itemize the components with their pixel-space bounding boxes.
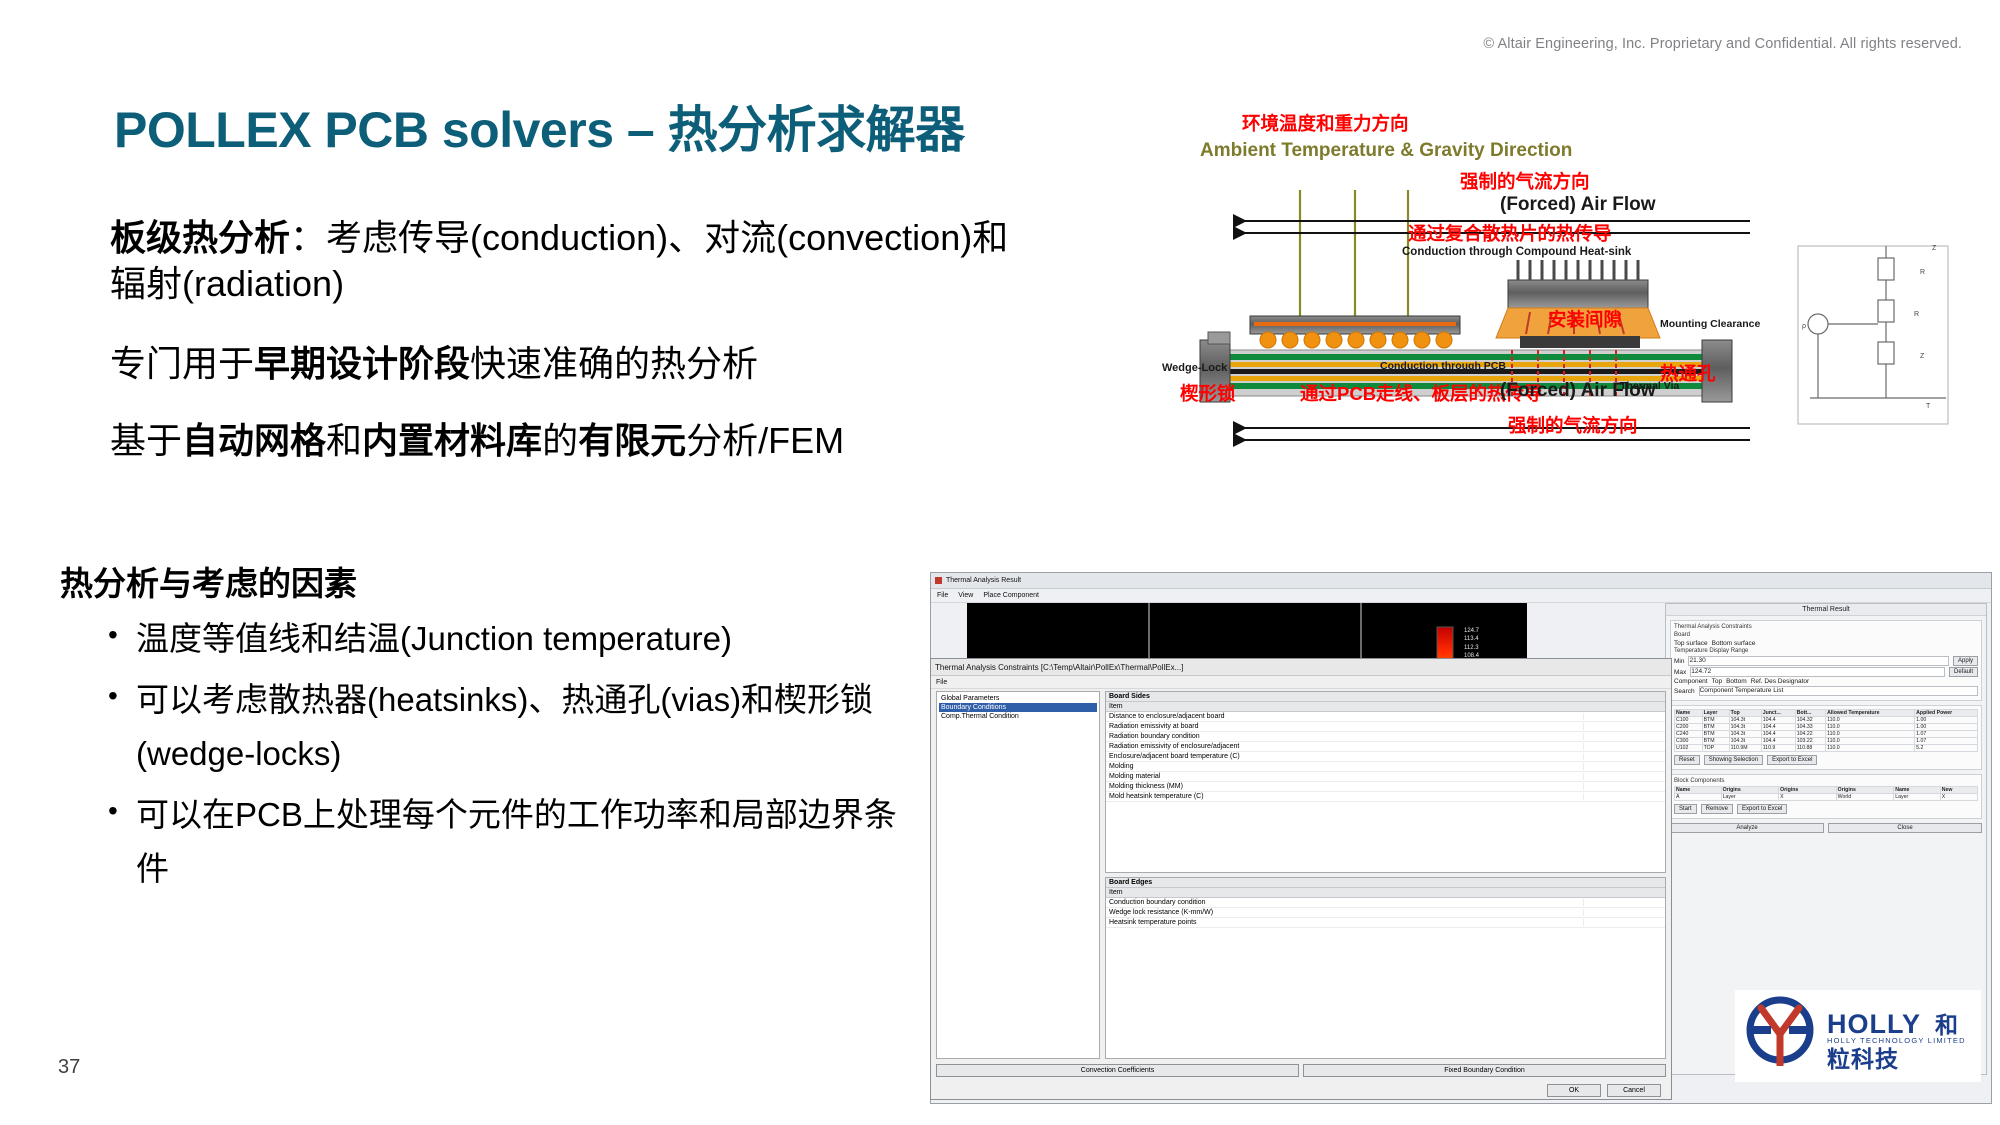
bullet-marker-icon: • xyxy=(108,612,136,657)
presentation-slide: © Altair Engineering, Inc. Proprietary a… xyxy=(0,0,2000,1125)
diagram-label-airflow-bottom-cn: 强制的气流方向 xyxy=(1508,412,1638,438)
panel-section-constraints: Thermal Analysis Constraints Board Top s… xyxy=(1670,620,1982,701)
factor-bullet-list: • 温度等值线和结温(Junction temperature) • 可以考虑散… xyxy=(108,612,898,903)
app-title-bar: Thermal Analysis Result xyxy=(931,573,1991,589)
svg-text:T: T xyxy=(1926,403,1931,410)
cell-block-layer2: Layer xyxy=(1894,794,1941,801)
table-row[interactable]: Mold heatsink temperature (C) xyxy=(1106,792,1665,802)
bullet-text: 可以考虑散热器(heatsinks)、热通孔(vias)和楔形锁(wedge-l… xyxy=(136,673,898,780)
tree-item-boundary-conditions[interactable]: Boundary Conditions xyxy=(939,703,1097,712)
cell-power: 5.2 xyxy=(1915,745,1978,752)
row-label: Radiation boundary condition xyxy=(1109,733,1583,740)
bullet-marker-icon: • xyxy=(108,788,136,833)
row-label: Distance to enclosure/adjacent board xyxy=(1109,713,1583,720)
temp-min-row[interactable]: Min 21.30 Apply xyxy=(1674,656,1978,666)
row-label: Molding thickness (MM) xyxy=(1109,783,1583,790)
row-label: Radiation emissivity of enclosure/adjace… xyxy=(1109,743,1583,750)
th-name: Name xyxy=(1675,710,1703,717)
table-row[interactable]: Molding thickness (MM) xyxy=(1106,782,1665,792)
block-action-buttons[interactable]: Start Remove Export to Excel xyxy=(1674,804,1978,814)
table-row[interactable]: C100 BTM 104.3t 104.4 104.32 110.0 1.00 xyxy=(1675,717,1978,724)
svg-text:R: R xyxy=(1920,269,1925,276)
cell-junction: 104.4 xyxy=(1761,717,1795,724)
tree-item-global-parameters[interactable]: Global Parameters xyxy=(939,694,1097,703)
row-value[interactable] xyxy=(1583,753,1662,760)
row-label: Molding material xyxy=(1109,773,1583,780)
table-row[interactable]: A Layer X World Layer X xyxy=(1675,794,1978,801)
export-block-excel-button[interactable]: Export to Excel xyxy=(1737,804,1787,814)
row-value[interactable] xyxy=(1583,733,1662,740)
cell-block-world: World xyxy=(1836,794,1894,801)
diagram-label-heatsink-en: Conduction through Compound Heat-sink xyxy=(1402,246,1631,258)
search-input[interactable]: Component Temperature List xyxy=(1699,686,1978,696)
cell-allowed: 110.0 xyxy=(1826,745,1915,752)
cell-layer: BTM xyxy=(1702,717,1729,724)
constraints-tree[interactable]: Global Parameters Boundary Conditions Co… xyxy=(936,691,1100,1059)
app-menu-bar[interactable]: File View Place Component xyxy=(931,589,1991,603)
board-group-label: Board xyxy=(1674,632,1978,638)
diagram-label-airflow-top-cn: 强制的气流方向 xyxy=(1460,168,1590,194)
table-header-row: Name Layer Top Junct... Bott... Allowed … xyxy=(1675,710,1978,717)
cancel-button[interactable]: Cancel xyxy=(1607,1084,1661,1097)
copyright-notice: © Altair Engineering, Inc. Proprietary a… xyxy=(1483,36,1962,52)
cell-allowed: 110.0 xyxy=(1826,738,1915,745)
tree-item-comp-thermal-condition[interactable]: Comp.Thermal Condition xyxy=(939,712,1097,721)
menu-item-place-component[interactable]: Place Component xyxy=(983,592,1039,599)
th-allowed: Allowed Temperature xyxy=(1826,710,1915,717)
paragraph-3-mid2: 的 xyxy=(542,420,578,461)
temp-range-label: Temperature Display Range xyxy=(1674,648,1978,654)
dialog-title-bar: Thermal Analysis Constraints [C:\Temp\Al… xyxy=(931,659,1671,676)
paragraph-3-post: 分析/FEM xyxy=(686,420,844,461)
colorbar-tick: 124.7 xyxy=(1464,627,1479,635)
block-section-label: Block Components xyxy=(1674,778,1978,784)
cell-power: 1.07 xyxy=(1915,738,1978,745)
cell-allowed: 110.0 xyxy=(1826,717,1915,724)
paragraph-2-bold: 早期设计阶段 xyxy=(254,343,470,384)
row-label: Enclosure/adjacent board temperature (C) xyxy=(1109,753,1583,760)
table-row[interactable]: Radiation emissivity of enclosure/adjace… xyxy=(1106,742,1665,752)
diagram-label-wedge-lock-cn: 楔形锁 xyxy=(1180,380,1236,406)
cell-block-layer: Layer xyxy=(1721,794,1779,801)
paragraph-3-bold2: 内置材料库 xyxy=(362,420,542,461)
row-value[interactable] xyxy=(1583,713,1662,720)
cell-bottom: 104.32 xyxy=(1795,717,1825,724)
cell-power: 1.00 xyxy=(1915,724,1978,731)
logo-brand-en: HOLLY xyxy=(1827,1009,1921,1039)
colorbar-tick: 113.4 xyxy=(1464,635,1479,643)
cell-layer: TOP xyxy=(1702,745,1729,752)
row-value[interactable] xyxy=(1583,723,1662,730)
paragraph-3-pre: 基于 xyxy=(110,420,182,461)
board-sides-header: Board Sides xyxy=(1106,692,1665,702)
th-block-name: Name xyxy=(1675,787,1722,794)
diagram-label-clearance-cn: 安装间隙 xyxy=(1548,306,1622,332)
row-value[interactable] xyxy=(1583,763,1662,770)
diagram-label-airflow-bottom-en: (Forced) Air Flow xyxy=(1500,380,1656,402)
table-action-buttons[interactable]: Reset Showing Selection Export to Excel xyxy=(1674,755,1978,765)
table-row[interactable]: Heatsink temperature points xyxy=(1106,918,1665,928)
constraints-section-label: Thermal Analysis Constraints xyxy=(1674,624,1978,630)
cell-bottom: 110.88 xyxy=(1795,745,1825,752)
th-top: Top xyxy=(1729,710,1761,717)
cell-top: 104.3t xyxy=(1729,731,1761,738)
cell-name: C300 xyxy=(1675,738,1703,745)
row-label: Mold heatsink temperature (C) xyxy=(1109,793,1583,800)
cell-block-x: X xyxy=(1779,794,1837,801)
diagram-label-conduction-pcb-en: Conduction through PCB xyxy=(1380,360,1506,372)
paragraph-3-bold1: 自动网格 xyxy=(182,420,326,461)
th-layer: Layer xyxy=(1702,710,1729,717)
th-block-origin3: Origins xyxy=(1836,787,1894,794)
paragraph-early-design: 专门用于早期设计阶段快速准确的热分析 xyxy=(110,341,1010,388)
analyze-button[interactable]: Analyze xyxy=(1670,823,1824,833)
table-row[interactable]: Radiation boundary condition xyxy=(1106,732,1665,742)
checkbox-bottom[interactable]: Bottom xyxy=(1726,678,1747,685)
board-surface-options[interactable]: Top surface Bottom surface xyxy=(1674,640,1978,647)
default-button[interactable]: Default xyxy=(1949,667,1978,677)
thermal-schematic-diagram: ZR RZ Tρ 环境温度和重力方向 Ambient Temperature &… xyxy=(1190,128,1980,573)
radio-top-surface[interactable]: Top surface xyxy=(1674,640,1708,647)
cell-power: 1.00 xyxy=(1915,717,1978,724)
logo-mark-icon xyxy=(1735,990,1825,1074)
cell-layer: BTM xyxy=(1702,738,1729,745)
paragraph-2-post: 快速准确的热分析 xyxy=(470,343,758,384)
table-row[interactable]: C300 BTM 104.3t 104.4 103.22 110.0 1.07 xyxy=(1675,738,1978,745)
start-button[interactable]: Start xyxy=(1674,804,1697,814)
th-block-origin1: Origins xyxy=(1721,787,1779,794)
cell-junction: 104.4 xyxy=(1761,724,1795,731)
th-junction: Junct... xyxy=(1761,710,1795,717)
row-label: Wedge lock resistance (K-mm/W) xyxy=(1109,909,1583,916)
board-edges-grid[interactable]: Board Edges Item Conduction boundary con… xyxy=(1105,877,1666,1059)
diagram-label-airflow-top-en: (Forced) Air Flow xyxy=(1500,194,1656,216)
convection-coefficients-button[interactable]: Convection Coefficients xyxy=(936,1064,1299,1077)
app-icon xyxy=(935,577,942,584)
board-edges-header: Board Edges xyxy=(1106,878,1665,888)
dialog-menu-file[interactable]: File xyxy=(931,676,1671,689)
diagram-label-ambient-cn: 环境温度和重力方向 xyxy=(1242,110,1409,136)
table-row[interactable]: Enclosure/adjacent board temperature (C) xyxy=(1106,752,1665,762)
table-row[interactable]: C200 BTM 104.3t 104.4 104.33 110.0 1.00 xyxy=(1675,724,1978,731)
remove-button[interactable]: Remove xyxy=(1701,804,1733,814)
board-sides-grid[interactable]: Board Sides Item Distance to enclosure/a… xyxy=(1105,691,1666,873)
checkbox-refdes[interactable]: Ref. Des Designator xyxy=(1751,678,1810,685)
cell-top: 104.3t xyxy=(1729,738,1761,745)
table-row[interactable]: Conduction boundary condition xyxy=(1106,898,1665,908)
paragraph-2-pre: 专门用于 xyxy=(110,343,254,384)
search-label: Search xyxy=(1674,688,1695,695)
menu-item-view[interactable]: View xyxy=(958,592,973,599)
table-row[interactable]: Wedge lock resistance (K-mm/W) xyxy=(1106,908,1665,918)
bullet-text: 温度等值线和结温(Junction temperature) xyxy=(136,612,898,665)
max-input[interactable]: 124.72 xyxy=(1690,667,1945,677)
row-value[interactable] xyxy=(1583,743,1662,750)
cell-name: U102 xyxy=(1675,745,1703,752)
table-row[interactable]: Radiation emissivity at board xyxy=(1106,722,1665,732)
min-input[interactable]: 21.30 xyxy=(1688,656,1949,666)
panel-title: Thermal Result xyxy=(1666,604,1986,616)
search-row[interactable]: Search Component Temperature List xyxy=(1674,686,1978,696)
list-item: • 可以在PCB上处理每个元件的工作功率和局部边界条件 xyxy=(108,788,898,895)
cell-name: C100 xyxy=(1675,717,1703,724)
cell-junction: 110.9 xyxy=(1761,745,1795,752)
table-row[interactable]: Molding xyxy=(1106,762,1665,772)
diagram-label-ambient-en: Ambient Temperature & Gravity Direction xyxy=(1200,140,1572,162)
th-bottom: Bott... xyxy=(1795,710,1825,717)
reset-button[interactable]: Reset xyxy=(1674,755,1700,765)
th-block-new: New xyxy=(1940,787,1977,794)
cell-block-x2: X xyxy=(1940,794,1977,801)
list-item: • 温度等值线和结温(Junction temperature) xyxy=(108,612,898,665)
cell-allowed: 110.0 xyxy=(1826,731,1915,738)
diagram-label-clearance-en: Mounting Clearance xyxy=(1660,318,1760,330)
bullet-marker-icon: • xyxy=(108,673,136,718)
row-label: Molding xyxy=(1109,763,1583,770)
component-label: Component xyxy=(1674,678,1708,685)
cell-allowed: 110.0 xyxy=(1826,724,1915,731)
colorbar-tick: 112.3 xyxy=(1464,644,1479,652)
max-label: Max xyxy=(1674,669,1686,676)
table-row[interactable]: Molding material xyxy=(1106,772,1665,782)
apply-button[interactable]: Apply xyxy=(1953,656,1978,666)
cell-bottom: 103.22 xyxy=(1795,738,1825,745)
row-label: Radiation emissivity at board xyxy=(1109,723,1583,730)
temperature-table: Name Layer Top Junct... Bott... Allowed … xyxy=(1674,709,1978,752)
thermal-analysis-constraints-dialog[interactable]: Thermal Analysis Constraints [C:\Temp\Al… xyxy=(930,658,1672,1100)
table-row[interactable]: Distance to enclosure/adjacent board xyxy=(1106,712,1665,722)
close-button[interactable]: Close xyxy=(1828,823,1982,833)
row-value[interactable] xyxy=(1583,899,1662,906)
list-item: • 可以考虑散热器(heatsinks)、热通孔(vias)和楔形锁(wedge… xyxy=(108,673,898,780)
dialog-ok-cancel[interactable]: OK Cancel xyxy=(1547,1084,1661,1097)
ok-button[interactable]: OK xyxy=(1547,1084,1601,1097)
svg-text:ρ: ρ xyxy=(1802,323,1806,330)
block-components-table: Name Origins Origins Origins Name New A … xyxy=(1674,786,1978,801)
row-value[interactable] xyxy=(1583,773,1662,780)
section-heading-factors: 热分析与考虑的因素 xyxy=(60,557,357,605)
board-edges-column-item: Item xyxy=(1106,888,1665,898)
svg-text:Z: Z xyxy=(1932,245,1937,252)
cell-top: 104.3t xyxy=(1729,717,1761,724)
block-components-section[interactable]: Block Components Name Origins Origins Or… xyxy=(1670,774,1982,819)
table-header-row: Name Origins Origins Origins Name New xyxy=(1675,787,1978,794)
cell-top: 110.9M xyxy=(1729,745,1761,752)
svg-text:R: R xyxy=(1914,311,1919,318)
th-block-name2: Name xyxy=(1894,787,1941,794)
svg-text:Z: Z xyxy=(1920,353,1925,360)
cell-name: C200 xyxy=(1675,724,1703,731)
row-value[interactable] xyxy=(1583,919,1662,926)
dialog-body: Global Parameters Boundary Conditions Co… xyxy=(936,691,1666,1059)
showing-selection-button[interactable]: Showing Selection xyxy=(1704,755,1763,765)
page-title: POLLEX PCB solvers – 热分析求解器 xyxy=(114,90,965,162)
dialog-footer-buttons[interactable]: Convection Coefficients Fixed Boundary C… xyxy=(936,1064,1666,1077)
table-row[interactable]: U102 TOP 110.9M 110.9 110.88 110.0 5.2 xyxy=(1675,745,1978,752)
cell-junction: 104.4 xyxy=(1761,731,1795,738)
cell-top: 104.3t xyxy=(1729,724,1761,731)
menu-item-file[interactable]: File xyxy=(937,592,948,599)
slide-page-number: 37 xyxy=(58,1056,80,1079)
cell-name: C240 xyxy=(1675,731,1703,738)
cell-layer: BTM xyxy=(1702,724,1729,731)
cell-power: 1.07 xyxy=(1915,731,1978,738)
component-temperature-table[interactable]: Name Layer Top Junct... Bott... Allowed … xyxy=(1670,705,1982,770)
paragraph-1-bold: 板级热分析 xyxy=(110,217,290,258)
table-row[interactable]: C240 BTM 104.3t 104.4 104.22 110.0 1.07 xyxy=(1675,731,1978,738)
component-options-row[interactable]: Component Top Bottom Ref. Des Designator xyxy=(1674,678,1978,685)
diagram-label-wedge-lock-en: Wedge-Lock xyxy=(1162,362,1227,374)
cell-bottom: 104.22 xyxy=(1795,731,1825,738)
row-value[interactable] xyxy=(1583,909,1662,916)
fixed-boundary-condition-button[interactable]: Fixed Boundary Condition xyxy=(1303,1064,1666,1077)
paragraph-board-thermal: 板级热分析：考虑传导(conduction)、对流(convection)和辐射… xyxy=(110,215,1010,307)
th-block-origin2: Origins xyxy=(1779,787,1837,794)
cell-layer: BTM xyxy=(1702,731,1729,738)
cell-block-a: A xyxy=(1675,794,1722,801)
bullet-text: 可以在PCB上处理每个元件的工作功率和局部边界条件 xyxy=(136,788,898,895)
paragraph-3-bold3: 有限元 xyxy=(578,420,686,461)
export-excel-button[interactable]: Export to Excel xyxy=(1767,755,1817,765)
paragraph-3-mid1: 和 xyxy=(326,420,362,461)
paragraph-fem: 基于自动网格和内置材料库的有限元分析/FEM xyxy=(110,418,1010,465)
cell-bottom: 104.33 xyxy=(1795,724,1825,731)
temp-max-row[interactable]: Max 124.72 Default xyxy=(1674,667,1978,677)
row-value[interactable] xyxy=(1583,783,1662,790)
diagram-label-heatsink-cn: 通过复合散热片的热传导 xyxy=(1408,220,1612,246)
row-label: Heatsink temperature points xyxy=(1109,919,1583,926)
th-power: Applied Power xyxy=(1915,710,1978,717)
checkbox-top[interactable]: Top xyxy=(1712,678,1722,685)
cell-junction: 104.4 xyxy=(1761,738,1795,745)
row-label: Conduction boundary condition xyxy=(1109,899,1583,906)
row-value[interactable] xyxy=(1583,793,1662,800)
body-text-block: 板级热分析：考虑传导(conduction)、对流(convection)和辐射… xyxy=(110,215,1010,465)
min-label: Min xyxy=(1674,658,1684,665)
radio-bottom-surface[interactable]: Bottom surface xyxy=(1712,640,1756,647)
panel-footer-buttons[interactable]: Analyze Close xyxy=(1670,823,1982,833)
board-sides-column-item: Item xyxy=(1106,702,1665,712)
holly-technology-logo: HOLLY 和粒科技 HOLLY TECHNOLOGY LIMITED xyxy=(1735,990,1981,1082)
logo-subtitle: HOLLY TECHNOLOGY LIMITED xyxy=(1827,1036,1966,1045)
app-window-title: Thermal Analysis Result xyxy=(946,577,1021,584)
